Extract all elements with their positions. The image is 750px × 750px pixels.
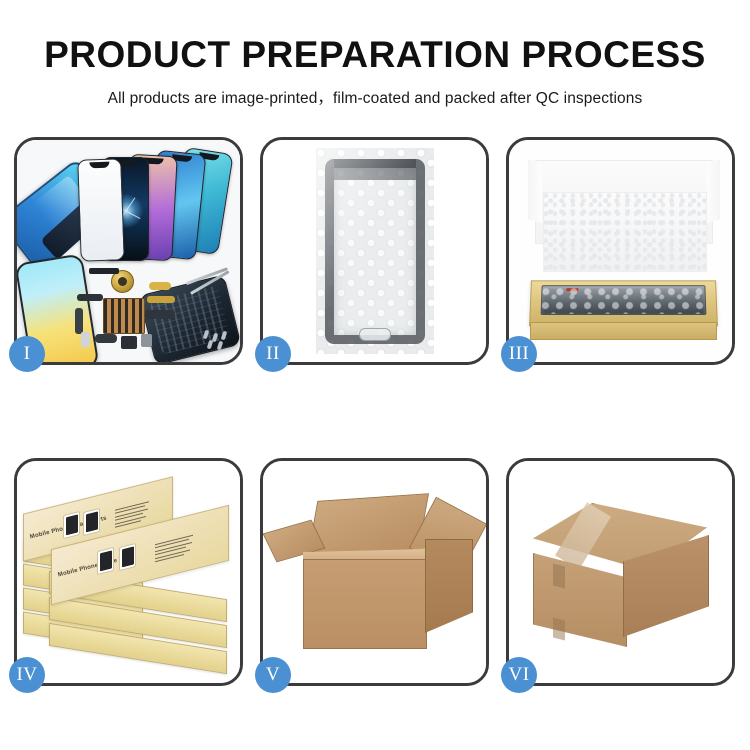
carton-seam-upper (553, 564, 565, 589)
carton-seam-lower (553, 618, 565, 641)
carton-side-face (425, 539, 473, 633)
retail-box-stack: Mobile Phone Spare Parts Mobile Phone Sp… (23, 483, 235, 671)
bubble-wrapped-screen-icon (316, 148, 434, 354)
step-4-image: Mobile Phone Spare Parts Mobile Phone Sp… (17, 461, 240, 683)
foam-padding-icon (543, 192, 707, 272)
kraft-tray-icon (529, 280, 718, 326)
page-subtitle: All products are image-printed，film-coat… (0, 75, 750, 108)
spare-parts-cluster (75, 272, 200, 362)
process-step-grid: I II III (14, 137, 736, 686)
step-badge-3: III (501, 336, 537, 372)
step-badge-4: IV (9, 657, 45, 693)
packed-product-icon (541, 285, 707, 315)
page-header: PRODUCT PREPARATION PROCESS All products… (0, 0, 750, 108)
sealed-carton-front (533, 553, 627, 647)
step-badge-1: I (9, 336, 45, 372)
process-step-panel-4: Mobile Phone Spare Parts Mobile Phone Sp… (14, 458, 243, 686)
step-badge-2: II (255, 336, 291, 372)
page-title: PRODUCT PREPARATION PROCESS (0, 0, 750, 75)
screws-icon (204, 330, 230, 348)
process-step-panel-1: I (14, 137, 243, 365)
step-2-image (263, 140, 486, 362)
carton-front-face (303, 559, 427, 649)
step-3-image (509, 140, 732, 362)
process-step-panel-2: II (260, 137, 489, 365)
tray-front-face (530, 322, 717, 340)
step-6-image (509, 461, 732, 683)
process-step-panel-3: III (506, 137, 735, 365)
step-1-image (17, 140, 240, 362)
step-5-image (263, 461, 486, 683)
step-badge-5: V (255, 657, 291, 693)
process-step-panel-5: V (260, 458, 489, 686)
phone-screen-fan (69, 148, 240, 273)
process-step-panel-6: VI (506, 458, 735, 686)
step-badge-6: VI (501, 657, 537, 693)
